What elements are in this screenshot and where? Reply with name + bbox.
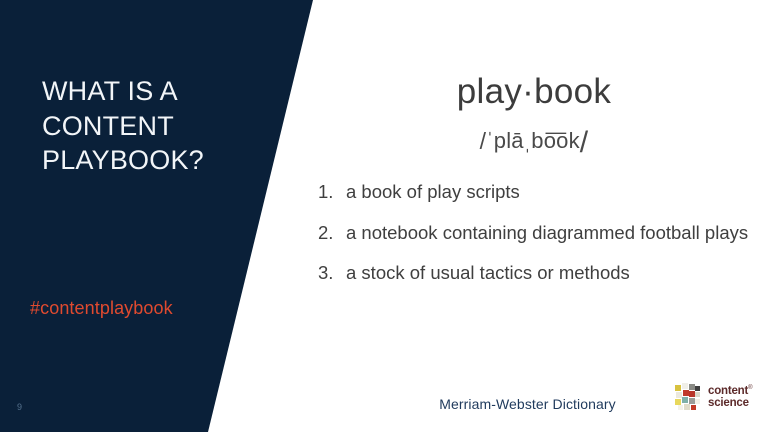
list-item-number: 3.: [318, 261, 346, 286]
pronunciation-body: ˈplāˌbo͞ok: [486, 128, 580, 153]
page-number: 9: [17, 402, 22, 412]
title-panel: [0, 0, 330, 432]
logo-wordmark: content® science: [708, 385, 752, 409]
list-item-text: a notebook containing diagrammed footbal…: [346, 221, 758, 246]
definition-list: 1. a book of play scripts 2. a notebook …: [318, 180, 758, 302]
hashtag-label: #contentplaybook: [30, 298, 173, 319]
logo-text-content: content: [708, 385, 748, 397]
definition-content: play·book /ˈplāˌbo͞ok/ 1. a book of play…: [300, 0, 768, 432]
list-item: 2. a notebook containing diagrammed foot…: [318, 221, 758, 246]
list-item: 3. a stock of usual tactics or methods: [318, 261, 758, 286]
list-item-text: a book of play scripts: [346, 180, 758, 205]
dictionary-headword: play·book: [300, 72, 768, 112]
brand-logo: content® science: [674, 379, 758, 415]
page-title: WHAT IS A CONTENT PLAYBOOK?: [42, 74, 282, 178]
logo-line-2: science: [708, 398, 752, 410]
list-item-text: a stock of usual tactics or methods: [346, 261, 758, 286]
dictionary-pronunciation: /ˈplāˌbo͞ok/: [300, 126, 768, 160]
mosaic-squares-icon: [674, 382, 704, 412]
logo-line-1: content®: [708, 385, 752, 398]
list-item: 1. a book of play scripts: [318, 180, 758, 205]
pronunciation-trail-slash: /: [580, 126, 589, 159]
list-item-number: 2.: [318, 221, 346, 246]
slide: WHAT IS A CONTENT PLAYBOOK? #contentplay…: [0, 0, 768, 432]
list-item-number: 1.: [318, 180, 346, 205]
trademark-icon: ®: [748, 385, 752, 391]
